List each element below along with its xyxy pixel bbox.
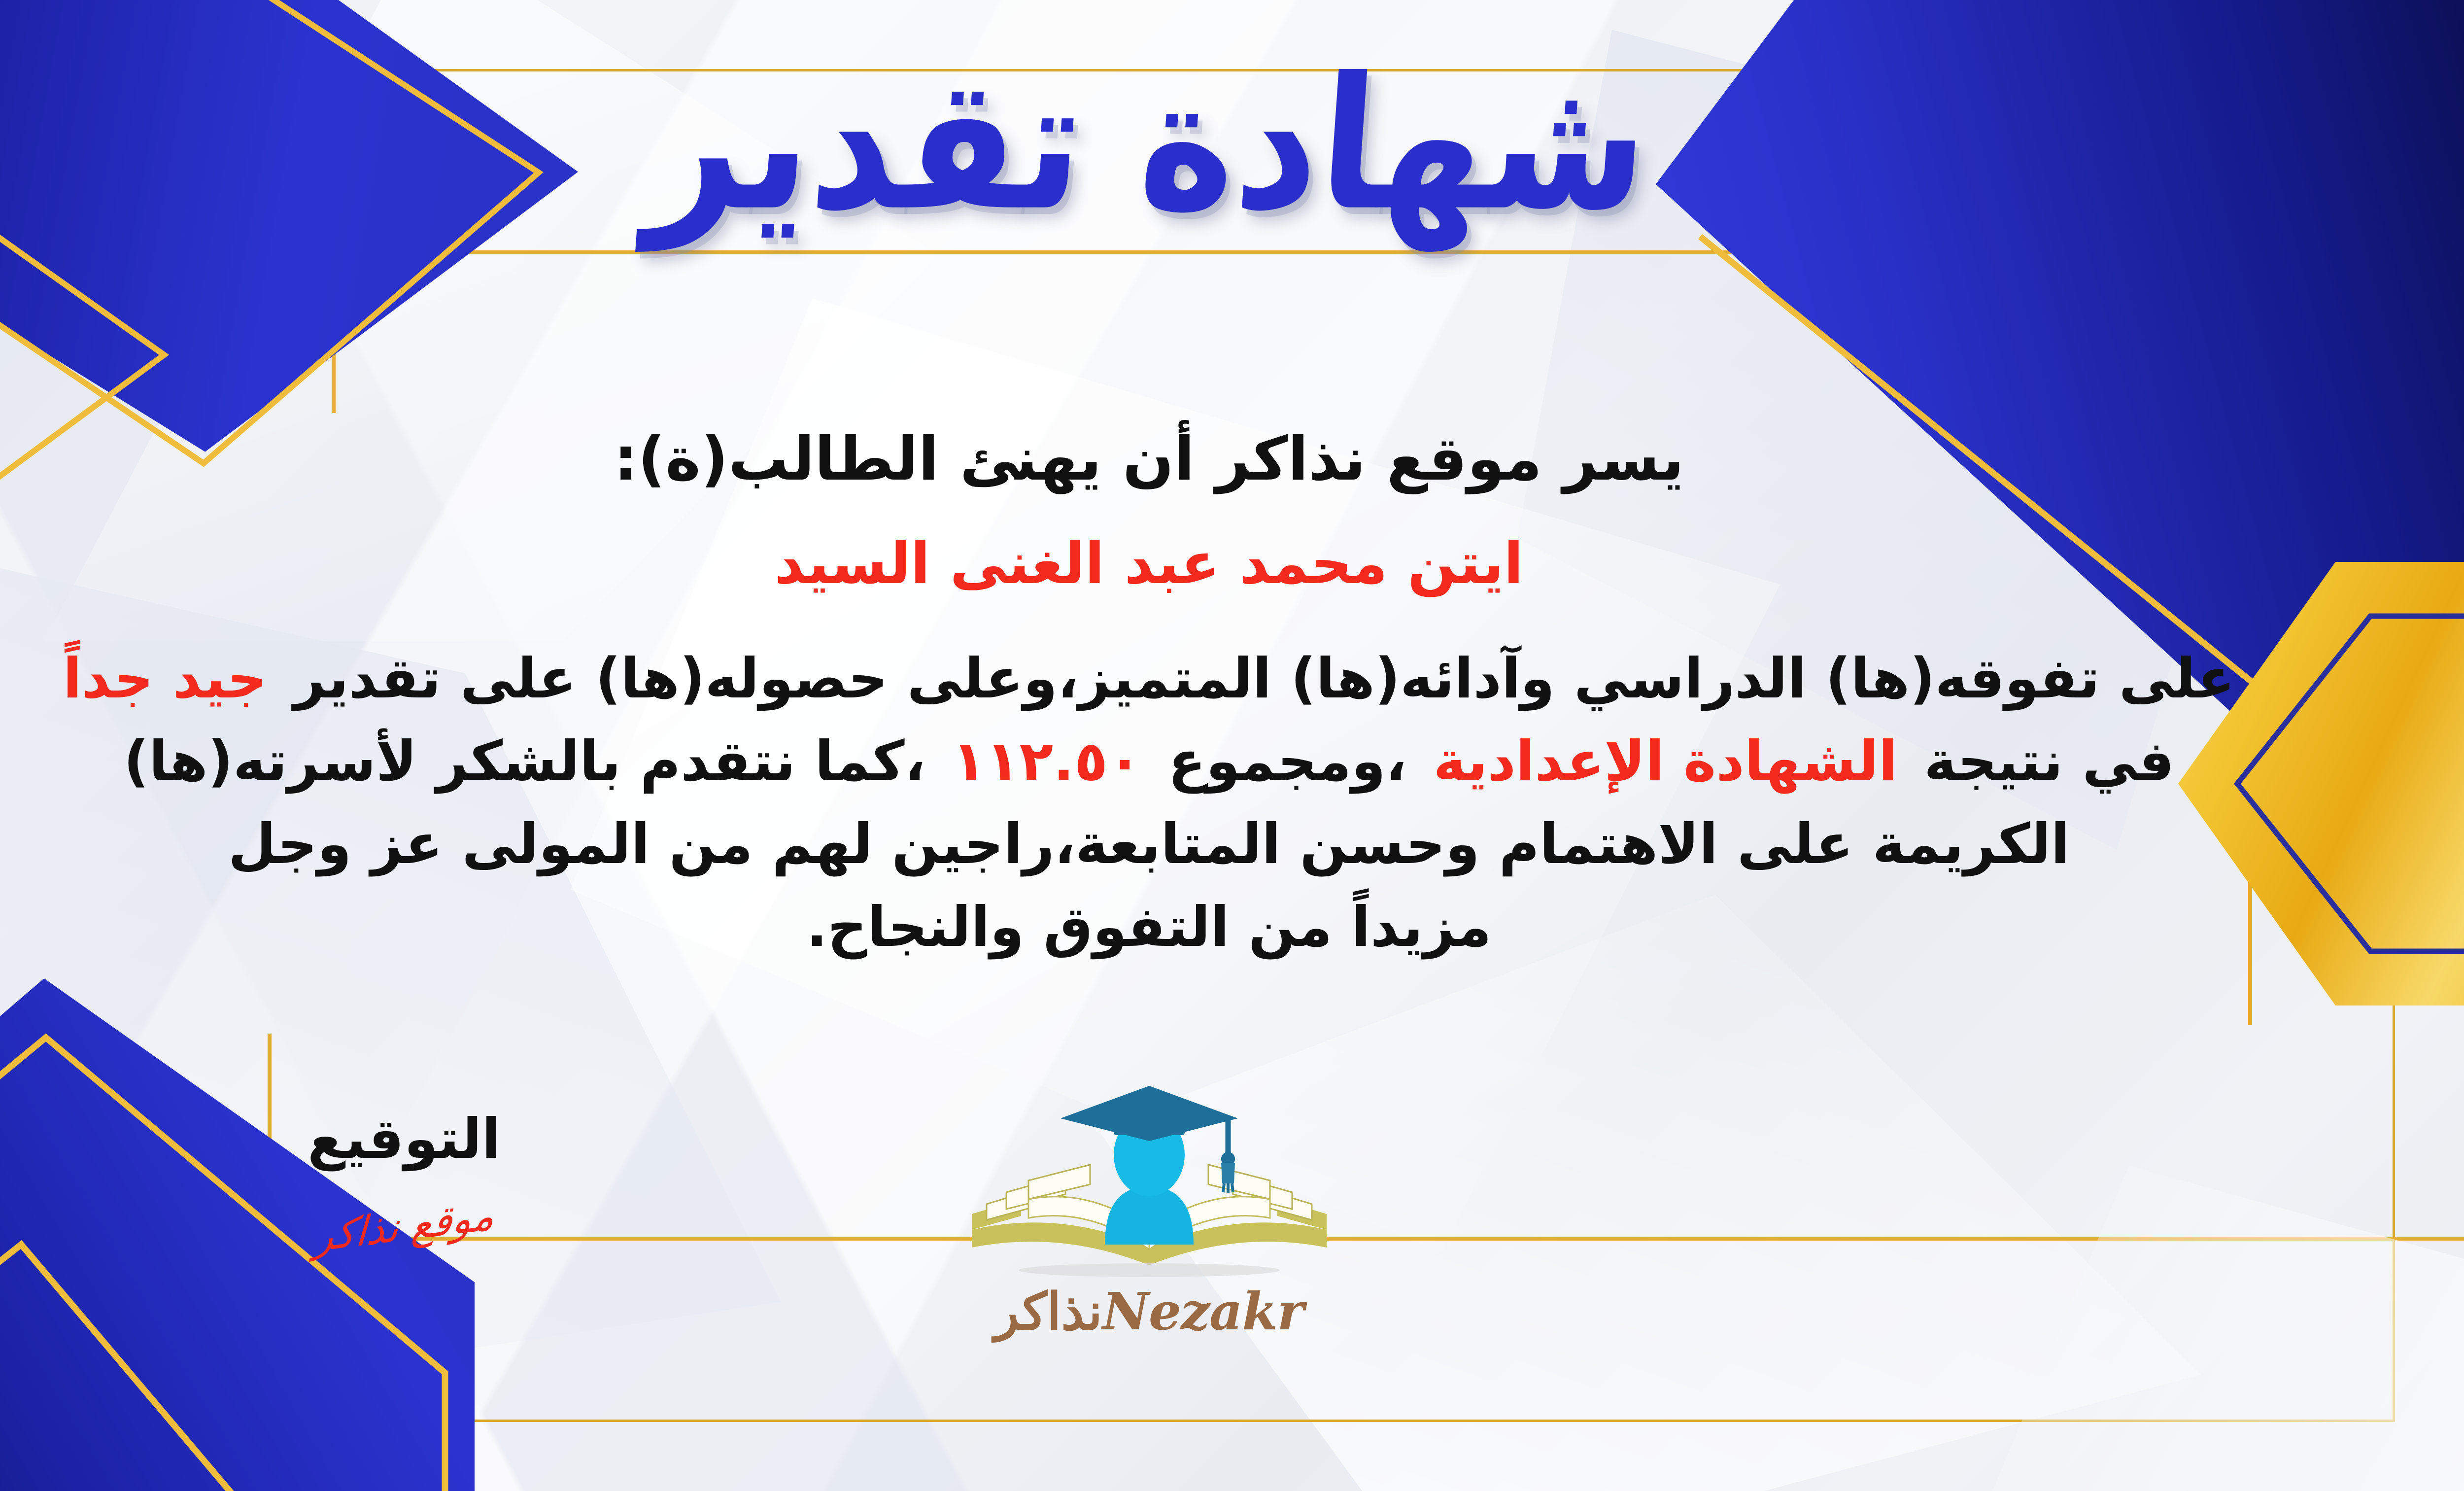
intro-line: يسر موقع نذاكر أن يهنئ الطالب(ة): [0,414,2316,504]
logo-wordmark: Nezakrنذاكر [942,1281,1356,1342]
student-name: ايتن محمد عبد الغنى السيد [0,521,2316,607]
body-line-2-mid: ،ومجموع [1168,729,1406,794]
certificate-title-area: شهادة تقدير [0,59,2464,230]
gold-rail-top-vertical [332,250,336,413]
logo-name-ar: نذاكر [994,1281,1102,1342]
body-line-2-suffix: ،كما نتقدم بالشكر لأسرته(ها) [124,729,925,794]
site-logo: Nezakrنذاكر [942,1082,1356,1342]
body-line-1: على تفوقه(ها) الدراسي وآدائه(ها) المتميز… [0,637,2316,720]
exam-name: الشهادة الإعدادية [1433,729,1897,794]
signature-label: التوقيع [227,1111,582,1167]
certificate-body: يسر موقع نذاكر أن يهنئ الطالب(ة): ايتن م… [0,414,2316,969]
certificate-canvas: شهادة تقدير يسر موقع نذاكر أن يهنئ الطال… [0,0,2464,1491]
certificate-footer: التوقيع موقع نذاكر [0,1082,2464,1397]
body-line-2-prefix: في نتيجة [1924,729,2174,794]
certificate-title: شهادة تقدير [643,49,1655,240]
body-paragraph: على تفوقه(ها) الدراسي وآدائه(ها) المتميز… [0,637,2316,969]
body-line-3: الكريمة على الاهتمام وحسن المتابعة،راجين… [0,803,2316,886]
grade-value: جيد جداً [63,647,267,711]
logo-name-en: Nezakr [1102,1281,1304,1342]
body-line-1-text: على تفوقه(ها) الدراسي وآدائه(ها) المتميز… [294,647,2235,711]
total-score: ١١٢.٥٠ [952,729,1141,794]
body-line-2: في نتيجةالشهادة الإعدادية،ومجموع١١٢.٥٠،ك… [0,720,2316,803]
signature-block: التوقيع موقع نذاكر [227,1111,582,1250]
body-line-4: مزيداً من التفوق والنجاح. [0,886,2316,969]
graduate-book-logo-icon [942,1082,1356,1289]
gold-rail-top [332,250,2464,254]
signature-mark: موقع نذاكر [313,1192,495,1261]
